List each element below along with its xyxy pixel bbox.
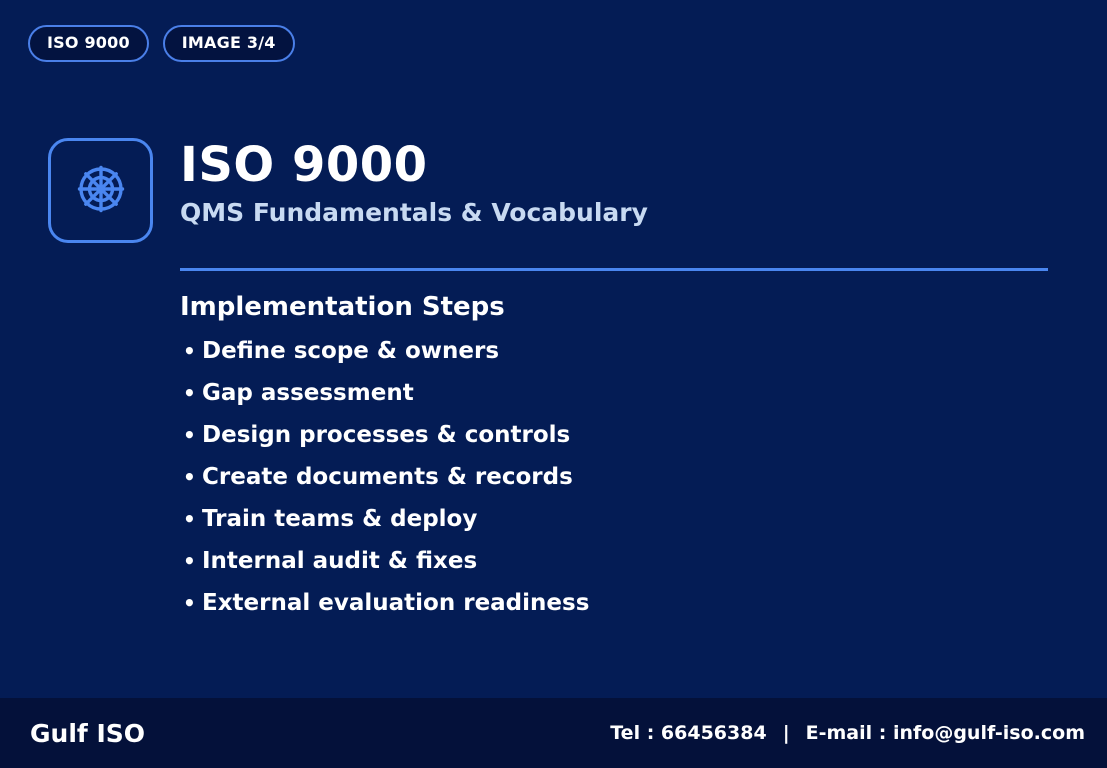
bullet-icon: • [180,593,202,613]
list-item: • Train teams & deploy [180,508,1067,531]
page-title: ISO 9000 [180,140,648,190]
page-header: ISO 9000 QMS Fundamentals & Vocabulary [48,138,648,243]
badge-row: ISO 9000 IMAGE 3/4 [28,25,295,62]
image-counter-badge: IMAGE 3/4 [163,25,295,62]
standard-badge: ISO 9000 [28,25,149,62]
list-item: • Design processes & controls [180,424,1067,447]
list-item-label: Design processes & controls [202,424,570,447]
bullet-icon: • [180,383,202,403]
bullet-icon: • [180,425,202,445]
bullet-icon: • [180,467,202,487]
list-item-label: Train teams & deploy [202,508,477,531]
section-heading: Implementation Steps [180,292,1067,323]
title-block: ISO 9000 QMS Fundamentals & Vocabulary [180,138,648,227]
list-item: • Create documents & records [180,466,1067,489]
header-divider [180,268,1048,271]
implementation-steps-list: • Define scope & owners • Gap assessment… [180,340,1067,615]
ship-wheel-icon [74,162,128,220]
list-item: • External evaluation readiness [180,592,1067,615]
footer-contact: Tel : 66456384 | E-mail : info@gulf-iso.… [610,724,1085,743]
footer-brand: Gulf ISO [30,721,145,746]
list-item-label: Gap assessment [202,382,414,405]
list-item-label: Create documents & records [202,466,573,489]
list-item-label: Define scope & owners [202,340,499,363]
list-item-label: Internal audit & fixes [202,550,477,573]
main-content: Implementation Steps • Define scope & ow… [180,292,1067,634]
bullet-icon: • [180,341,202,361]
footer-separator: | [767,724,806,743]
list-item: • Gap assessment [180,382,1067,405]
bullet-icon: • [180,551,202,571]
list-item: • Define scope & owners [180,340,1067,363]
page-subtitle: QMS Fundamentals & Vocabulary [180,199,648,227]
page-footer: Gulf ISO Tel : 66456384 | E-mail : info@… [0,698,1107,768]
logo-container [48,138,153,243]
list-item-label: External evaluation readiness [202,592,589,615]
footer-email: E-mail : info@gulf-iso.com [806,724,1085,743]
footer-phone: Tel : 66456384 [610,724,766,743]
list-item: • Internal audit & fixes [180,550,1067,573]
bullet-icon: • [180,509,202,529]
